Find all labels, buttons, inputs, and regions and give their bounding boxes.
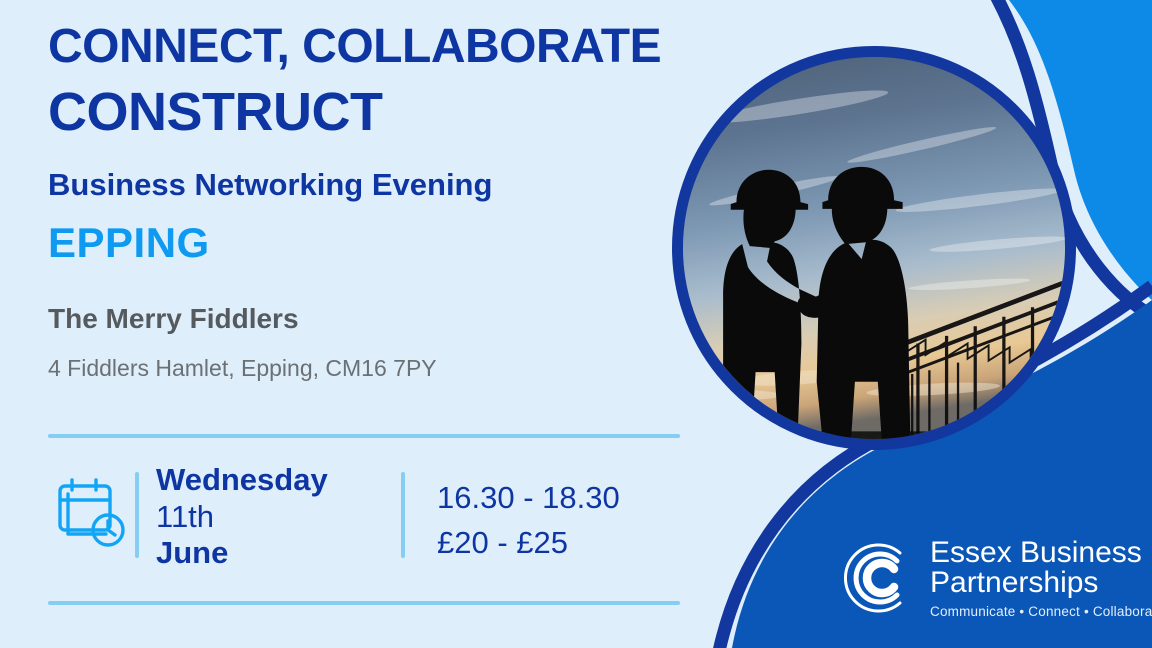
date-weekday: Wednesday: [156, 462, 328, 499]
event-date-block: Wednesday 11th June: [156, 462, 328, 572]
event-details-block: 16.30 - 18.30 £20 - £25: [437, 476, 620, 566]
logo-text: Essex Business Partnerships Communicate …: [930, 538, 1152, 619]
venue-address: 4 Fiddlers Hamlet, Epping, CM16 7PY: [48, 355, 437, 382]
event-poster: CONNECT, COLLABORATE CONSTRUCT Business …: [0, 0, 1152, 648]
calendar-clock-icon: [50, 472, 130, 552]
handshake-construction-photo: [683, 57, 1065, 439]
event-subtitle: Business Networking Evening: [48, 167, 492, 203]
headline-line-1: CONNECT, COLLABORATE: [48, 22, 661, 73]
concentric-c-logo-icon: [838, 537, 920, 619]
logo-line-2: Partnerships: [930, 568, 1152, 598]
hero-photo-circle: [672, 46, 1076, 450]
headline-line-2: CONSTRUCT: [48, 84, 382, 141]
venue-name: The Merry Fiddlers: [48, 303, 299, 335]
event-time: 16.30 - 18.30: [437, 476, 620, 521]
logo-line-1: Essex Business: [930, 538, 1152, 568]
date-month: June: [156, 535, 328, 572]
divider-top: [48, 434, 680, 438]
divider-bottom: [48, 601, 680, 605]
divider-vertical-time: [401, 472, 405, 558]
event-city: EPPING: [48, 219, 210, 267]
date-day: 11th: [156, 499, 328, 536]
logo-tagline: Communicate • Connect • Collaborate: [930, 604, 1152, 619]
divider-vertical-date: [135, 472, 139, 558]
organisation-logo: Essex Business Partnerships Communicate …: [838, 537, 1152, 619]
event-price: £20 - £25: [437, 521, 620, 566]
